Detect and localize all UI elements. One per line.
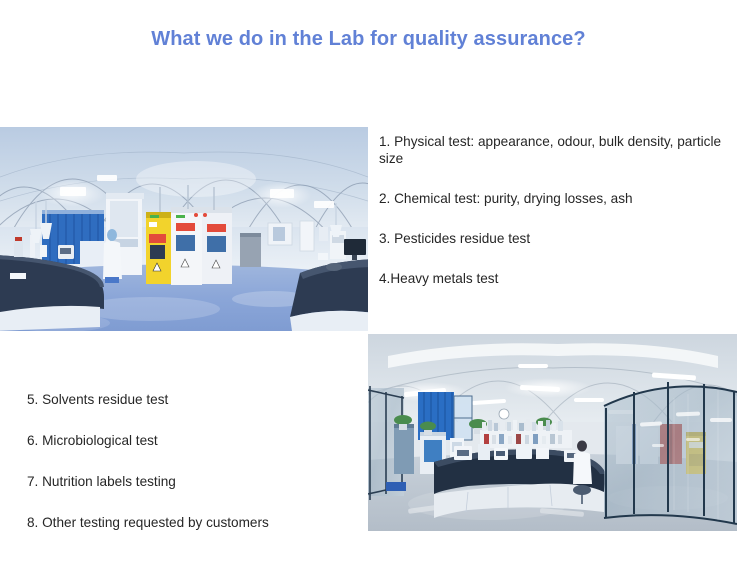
right-test-list: 1. Physical test: appearance, odour, bul… [379,133,737,310]
lab-panorama-glass-partition-room-image [368,334,737,531]
bottom-test-list: 5. Solvents residue test 6. Microbiologi… [27,391,357,555]
list-item: 5. Solvents residue test [27,391,357,408]
lab-panorama-instrument-room-image [0,127,368,331]
list-item: 4.Heavy metals test [379,270,737,287]
list-item: 2. Chemical test: purity, drying losses,… [379,190,737,207]
list-item: 8. Other testing requested by customers [27,514,357,531]
list-item: 1. Physical test: appearance, odour, bul… [379,133,737,167]
list-item: 6. Microbiological test [27,432,357,449]
list-item: 3. Pesticides residue test [379,230,737,247]
page-title: What we do in the Lab for quality assura… [0,28,737,51]
list-item: 7. Nutrition labels testing [27,473,357,490]
